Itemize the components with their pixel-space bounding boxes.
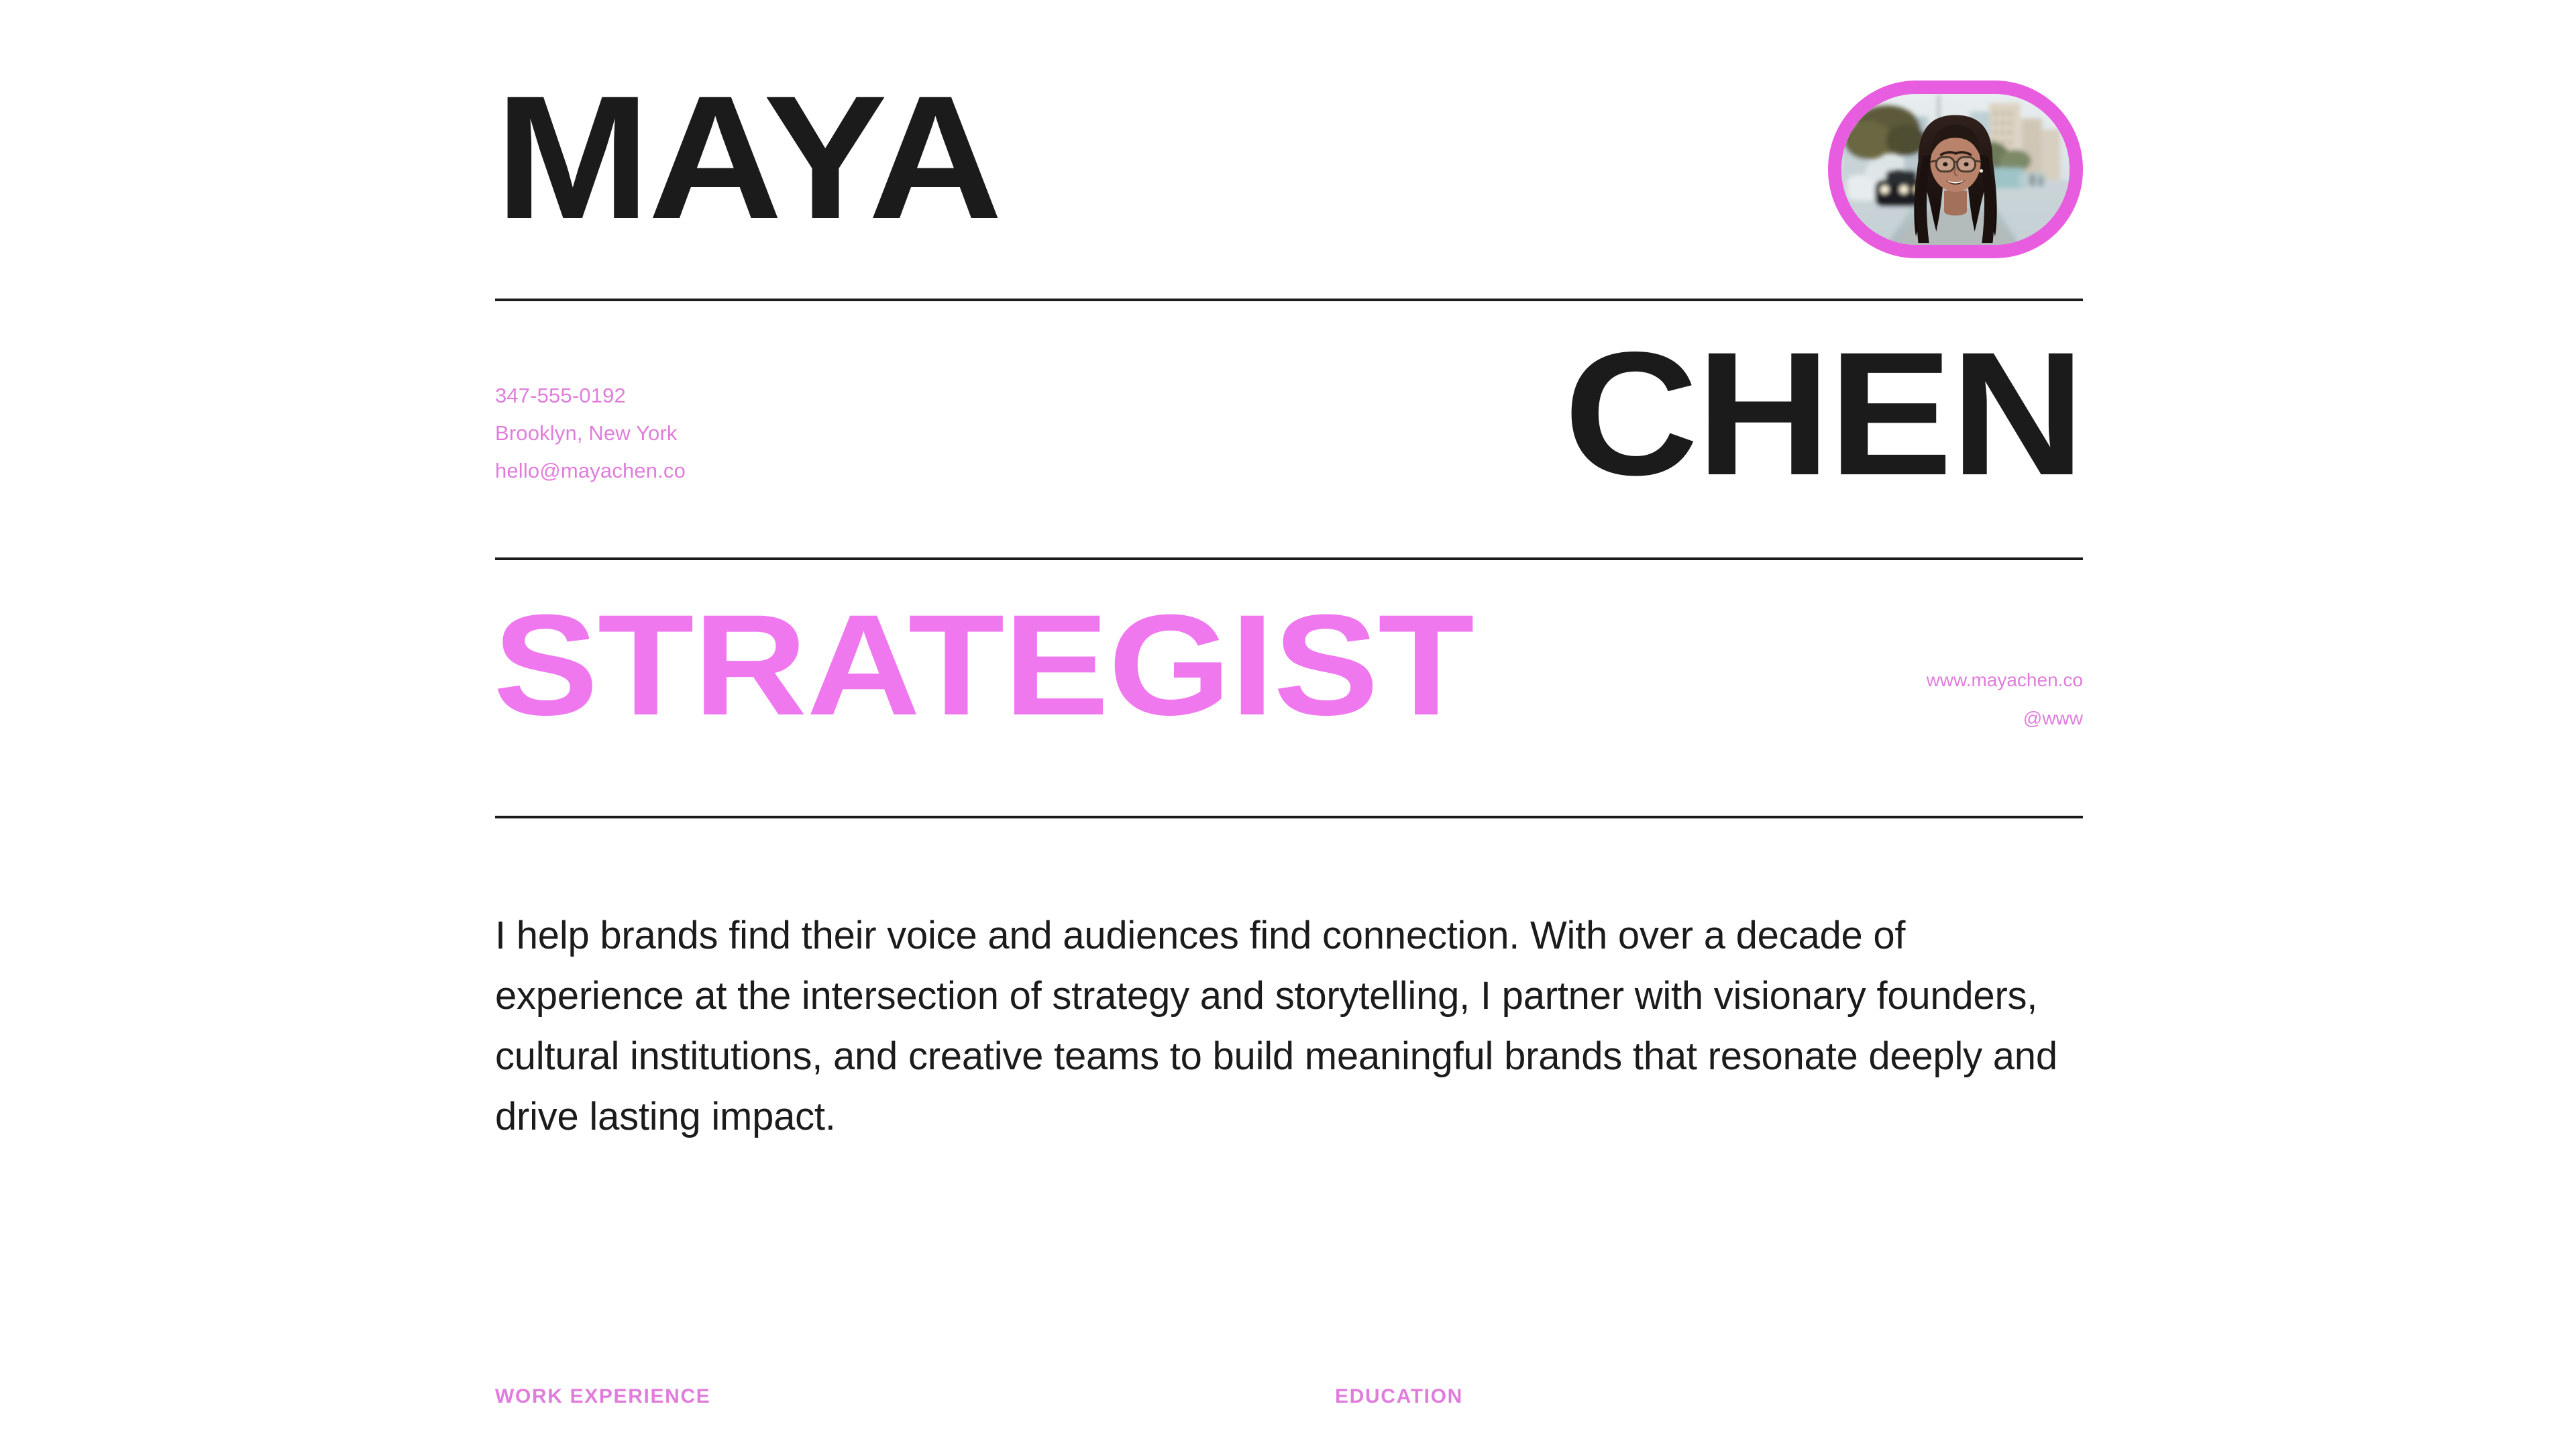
- contact-phone[interactable]: 347-555-0192: [495, 377, 686, 415]
- social-handle[interactable]: @www: [1927, 699, 2083, 737]
- divider-2: [495, 557, 2083, 560]
- first-name-heading: MAYA: [495, 87, 1000, 228]
- contact-block: 347-555-0192 Brooklyn, New York hello@ma…: [495, 377, 686, 490]
- section-label-work-experience: WORK EXPERIENCE: [495, 1385, 710, 1408]
- last-name-heading: CHEN: [1564, 343, 2083, 484]
- divider-1: [495, 299, 2083, 301]
- role-title: STRATEGIST: [493, 604, 1474, 727]
- divider-3: [495, 816, 2083, 818]
- web-links: www.mayachen.co @www: [1927, 661, 2083, 737]
- resume-page: MAYA: [0, 0, 2576, 1449]
- summary-paragraph: I help brands find their voice and audie…: [495, 906, 2098, 1147]
- contact-email[interactable]: hello@mayachen.co: [495, 452, 686, 490]
- avatar: [1828, 80, 2083, 258]
- website-link[interactable]: www.mayachen.co: [1927, 661, 2083, 699]
- section-label-education: EDUCATION: [1335, 1385, 1463, 1408]
- contact-location: Brooklyn, New York: [495, 415, 686, 452]
- avatar-photo: [1841, 94, 2070, 245]
